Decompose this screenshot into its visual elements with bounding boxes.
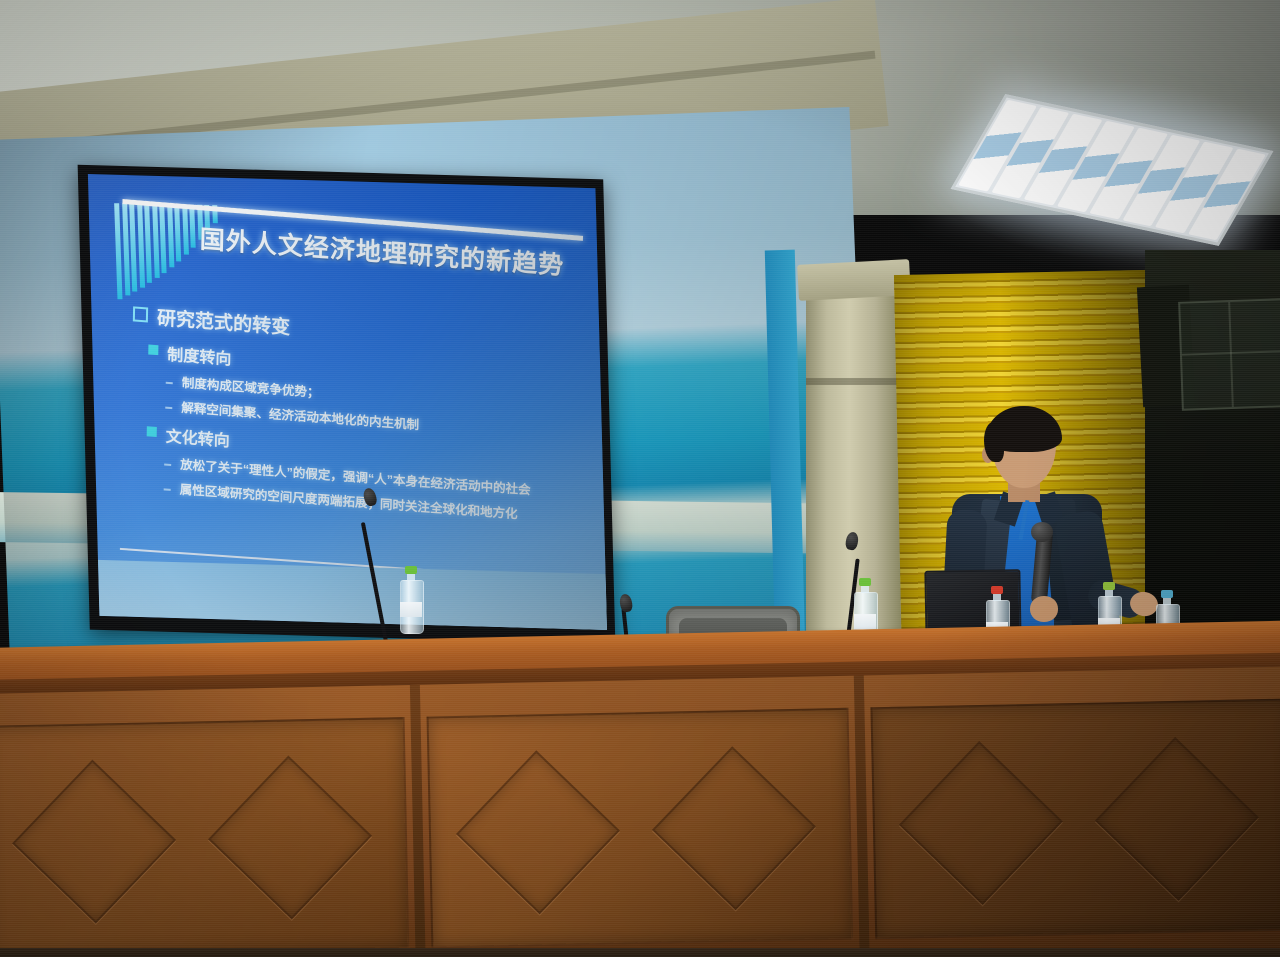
presentation-slide: 国外人文经济地理研究的新趋势 研究范式的转变 制度转向 制度构成区域竞争优势； … [88,174,607,630]
dash-bullet-icon [164,489,171,492]
gooseneck-microphone [366,492,426,662]
dash-bullet-icon [166,382,173,385]
floor-strip [0,948,1280,957]
table-panel [870,699,1280,940]
lecture-hall-photo: 国外人文经济地理研究的新趋势 研究范式的转变 制度转向 制度构成区域竞争优势； … [0,0,1280,957]
bullet-text: 制度构成区域竞争优势； [182,374,320,402]
bottle-cap [991,586,1002,594]
panel-diamond-relief [208,755,372,919]
slide-bullet-list: 研究范式的转变 制度转向 制度构成区域竞争优势； 解释空间集聚、经济活动本地化的… [123,301,597,536]
slide-title: 国外人文经济地理研究的新趋势 [199,220,607,287]
bullet-text: 研究范式的转变 [157,303,291,340]
presenter-hand-left [1030,596,1058,622]
panel-divider [853,675,869,957]
bottle-label [854,614,876,629]
table-front-panels [0,666,1280,957]
microphone-capsule-icon [1031,522,1053,542]
panel-diamond-relief [12,760,176,924]
bullet-text: 文化转向 [166,423,231,452]
dash-bullet-icon [165,407,172,410]
bullet-text: 制度转向 [167,341,232,370]
window-frame [1178,298,1280,411]
panel-diamond-relief [1095,737,1259,901]
dash-bullet-icon [164,464,171,467]
bottle-cap [1161,590,1172,598]
water-bottle [400,580,422,634]
panel-divider [410,685,426,957]
bottle-cap [1103,582,1114,590]
table-panel [427,708,853,949]
presenter-hair-side [984,422,1004,462]
conference-table [0,640,1280,957]
bottle-cap [859,578,870,586]
hollow-square-bullet-icon [133,306,148,322]
column-band [806,378,902,385]
bottle-cap [405,566,416,574]
slide-bottom-band [98,560,607,630]
solid-square-bullet-icon [147,427,157,438]
projection-screen: 国外人文经济地理研究的新趋势 研究范式的转变 制度转向 制度构成区域竞争优势； … [78,165,616,645]
panel-diamond-relief [899,741,1063,905]
panel-diamond-relief [652,746,816,910]
microphone-neck [361,522,390,652]
table-panel [0,717,410,957]
bottle-label [400,602,422,617]
solid-square-bullet-icon [148,344,158,355]
panel-diamond-relief [456,750,620,914]
